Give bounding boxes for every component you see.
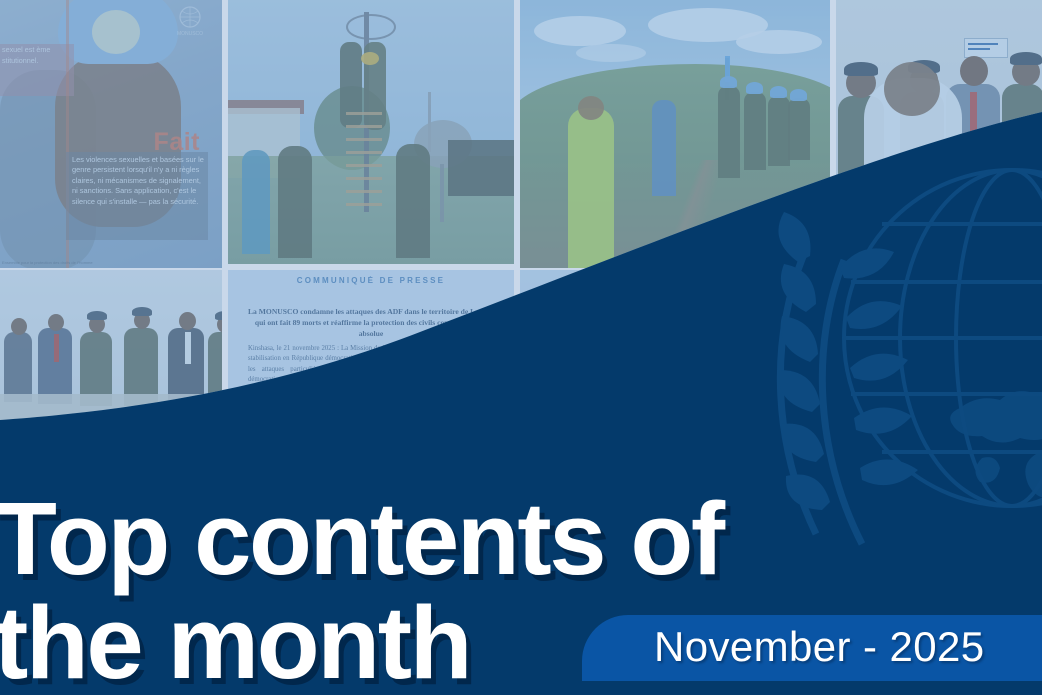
poster-canvas: sexuel est ème stitutionnel. MONUSCO Fai…: [0, 0, 1042, 695]
poster-quote: Les violences sexuelles et basées sur le…: [72, 155, 204, 207]
date-ribbon: November - 2025: [582, 615, 1042, 681]
collage-tile-peacekeeper-patrol: [520, 0, 830, 268]
headline-line-1: Top contents of: [0, 481, 723, 596]
collage-tile-filler: [520, 270, 850, 430]
collage-tile-officials-meeting: [836, 0, 1042, 262]
collage-tile-press-release: COMMUNIQUÉ DE PRESSE La MONUSCO condamne…: [228, 270, 514, 430]
collage-tile-monusco-poster: sexuel est ème stitutionnel. MONUSCO Fai…: [0, 0, 222, 268]
press-release-kicker: COMMUNIQUÉ DE PRESSE: [228, 276, 514, 285]
collage-tile-officials-lineup: [0, 270, 222, 430]
poster-top-text: sexuel est ème stitutionnel.: [2, 44, 72, 66]
svg-text:MONUSCO: MONUSCO: [177, 31, 203, 37]
date-label: November - 2025: [654, 623, 985, 671]
monusco-logo-icon: MONUSCO: [168, 4, 212, 38]
wall-sign-icon: [964, 38, 1008, 58]
press-release-body-second: Selon les informations recueillies, le b…: [248, 406, 494, 430]
collage-tile-antenna-installation: [228, 0, 514, 264]
poster-credit: Ensemble pour la protection des droits d…: [2, 260, 93, 265]
press-release-body: Kinshasa, le 21 novembre 2025 : La Missi…: [248, 344, 494, 396]
poster-heading: Fait: [154, 128, 200, 157]
press-release-headline: La MONUSCO condamne les attaques des ADF…: [246, 306, 496, 339]
